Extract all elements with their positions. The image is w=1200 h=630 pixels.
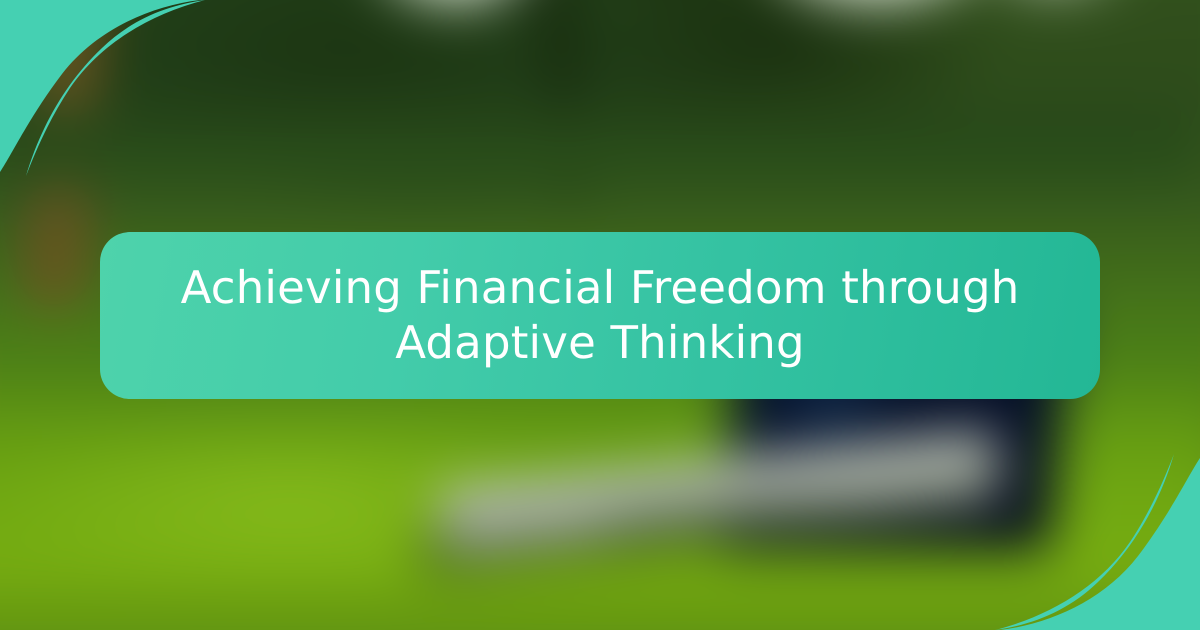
hedge-row [0,90,1200,210]
hero-card: Achieving Financial Freedom through Adap… [0,0,1200,630]
page-title: Achieving Financial Freedom through Adap… [134,261,1066,371]
title-banner: Achieving Financial Freedom through Adap… [100,232,1100,399]
